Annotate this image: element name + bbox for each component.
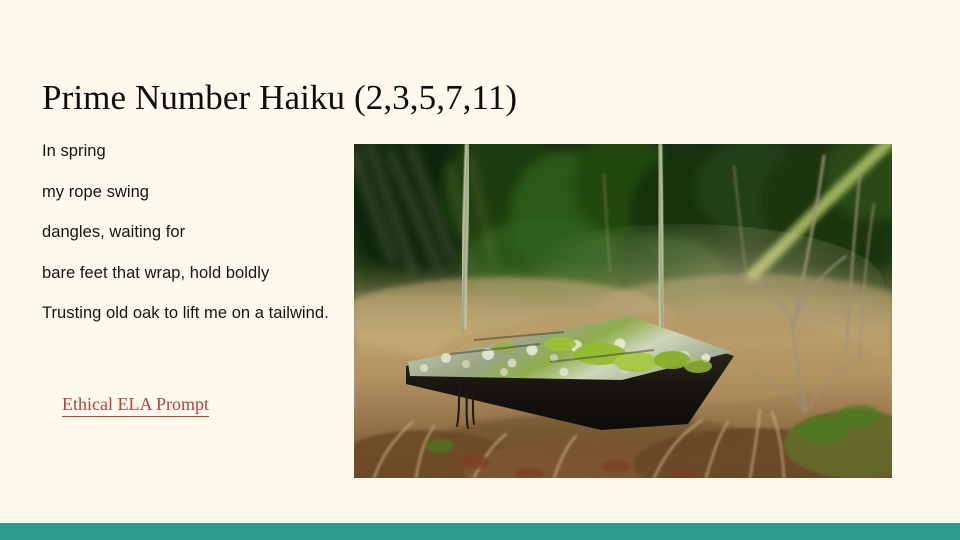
- page-title: Prime Number Haiku (2,3,5,7,11): [42, 78, 642, 118]
- haiku-line-4: bare feet that wrap, hold boldly: [42, 253, 372, 294]
- prompt-link-container: Ethical ELA Prompt: [62, 394, 209, 417]
- haiku-text-block: In spring my rope swing dangles, waiting…: [42, 131, 372, 334]
- swing-photo-illustration: [354, 144, 892, 478]
- ethical-ela-prompt-link[interactable]: Ethical ELA Prompt: [62, 394, 209, 417]
- haiku-line-3: dangles, waiting for: [42, 212, 372, 253]
- haiku-line-5: Trusting old oak to lift me on a tailwin…: [42, 293, 372, 334]
- swing-photo: [354, 144, 892, 478]
- haiku-line-1: In spring: [42, 131, 372, 172]
- bottom-accent-bar: [0, 523, 960, 540]
- haiku-line-2: my rope swing: [42, 172, 372, 213]
- slide-canvas: Prime Number Haiku (2,3,5,7,11) In sprin…: [0, 0, 960, 540]
